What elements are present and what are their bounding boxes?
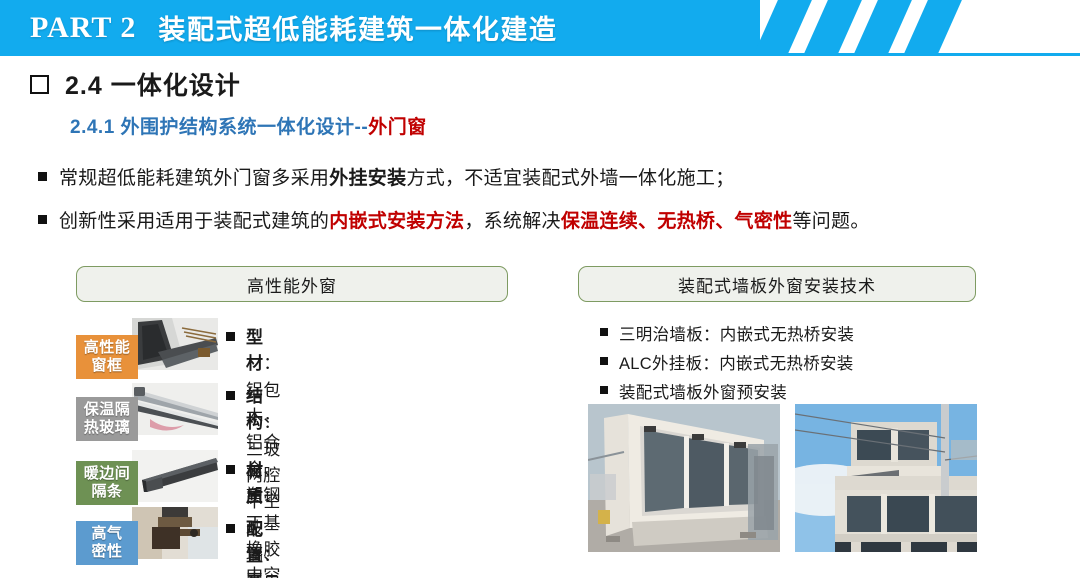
badge-line-1: 保温隔 — [84, 401, 131, 419]
badge-line-2: 窗框 — [91, 357, 122, 375]
badge-line-2: 隔条 — [91, 483, 122, 501]
bullet-1-seg-0: 常规超低能耗建筑外门窗多采用 — [59, 168, 329, 189]
badge-warm-edge-spacer: 暖边间 隔条 — [76, 461, 138, 505]
bullet-2-seg-2: ，系统解决 — [464, 211, 561, 232]
badge-line-2: 热玻璃 — [84, 419, 131, 437]
right-bullet-1: 三明治墙板：内嵌式无热桥安装 — [600, 321, 854, 345]
filled-square-bullet-icon — [38, 172, 47, 181]
header-banner: PART 2 装配式超低能耗建筑一体化建造 — [0, 0, 1080, 55]
bullet-2-seg-4: 等问题。 — [792, 211, 869, 232]
filled-square-bullet-icon — [226, 524, 235, 533]
filled-square-bullet-icon — [38, 215, 47, 224]
hollow-square-icon — [30, 75, 49, 94]
section-heading: 2.4 一体化设计 — [30, 66, 241, 102]
building-facade-installation-photo — [795, 404, 977, 552]
badge-line-1: 高性能 — [84, 339, 131, 357]
bullet-2-seg-1: 内嵌式安装方法 — [329, 211, 464, 232]
subsection-heading-accent: 外门窗 — [368, 117, 427, 138]
spec-label-1: 型材 — [246, 328, 263, 373]
precast-wall-panel-window-photo — [588, 404, 780, 552]
filled-square-bullet-icon — [600, 357, 608, 365]
badge-airtightness: 高气 密性 — [76, 521, 138, 565]
window-frame-photo — [132, 318, 218, 370]
right-bullet-2: ALC外挂板：内嵌式无热桥安装 — [600, 350, 854, 374]
warm-edge-spacer-photo — [132, 450, 218, 502]
filled-square-bullet-icon — [600, 328, 608, 336]
right-panel-caption-text: 装配式墙板外窗安装技术 — [678, 272, 876, 297]
spec-label-3: 材质 — [246, 461, 263, 506]
body-bullet-1: 常规超低能耗建筑外门窗多采用外挂安装方式，不适宜装配式外墙一体化施工； — [38, 163, 735, 190]
insulating-glass-photo — [132, 383, 218, 435]
body-bullet-2: 创新性采用适用于装配式建筑的内嵌式安装方法，系统解决保温连续、无热桥、气密性等问… — [38, 206, 870, 233]
bullet-1-seg-1: 外挂安装 — [329, 168, 406, 189]
slide-root: PART 2 装配式超低能耗建筑一体化建造 2.4 一体化设计 2.4.1 外围… — [0, 0, 1080, 578]
right-bullet-3-text: 装配式墙板外窗预安装 — [619, 379, 787, 403]
right-panel-caption-box: 装配式墙板外窗安装技术 — [578, 266, 976, 302]
bullet-2-seg-3: 保温连续、无热桥、气密性 — [561, 211, 793, 232]
banner-title-group: PART 2 装配式超低能耗建筑一体化建造 — [30, 0, 557, 55]
right-bullet-3: 装配式墙板外窗预安装 — [600, 379, 787, 403]
badge-line-1: 暖边间 — [84, 465, 131, 483]
filled-square-bullet-icon — [226, 465, 235, 474]
spec-label-4: 配置 — [246, 520, 263, 565]
spec-label-2: 结构 — [246, 387, 263, 432]
badge-insulating-glass: 保温隔 热玻璃 — [76, 397, 138, 441]
filled-square-bullet-icon — [226, 332, 235, 341]
subsection-heading: 2.4.1 外围护结构系统一体化设计--外门窗 — [70, 112, 427, 139]
spec-text-row-4: 配置：开启扇三道密封条、五个锁点 — [226, 517, 281, 578]
body-bullet-2-text: 创新性采用适用于装配式建筑的内嵌式安装方法，系统解决保温连续、无热桥、气密性等问… — [59, 206, 870, 233]
right-bullet-1-text: 三明治墙板：内嵌式无热桥安装 — [619, 321, 854, 345]
badge-high-performance-frame: 高性能 窗框 — [76, 335, 138, 379]
bullet-2-seg-0: 创新性采用适用于装配式建筑的 — [59, 211, 329, 232]
banner-title: 装配式超低能耗建筑一体化建造 — [158, 8, 557, 47]
section-heading-text: 2.4 一体化设计 — [65, 66, 241, 102]
left-panel-caption-box: 高性能外窗 — [76, 266, 508, 302]
badge-line-1: 高气 — [91, 525, 122, 543]
badge-line-2: 密性 — [91, 543, 122, 561]
spec-text-row-4-content: 配置：开启扇三道密封条、五个锁点 — [246, 517, 281, 578]
filled-square-bullet-icon — [226, 391, 235, 400]
filled-square-bullet-icon — [600, 386, 608, 394]
right-bullet-2-text: ALC外挂板：内嵌式无热桥安装 — [619, 350, 854, 374]
bullet-1-seg-2: 方式，不适宜装配式外墙一体化施工； — [406, 168, 734, 189]
airtight-hardware-photo — [132, 507, 218, 559]
body-bullet-1-text: 常规超低能耗建筑外门窗多采用外挂安装方式，不适宜装配式外墙一体化施工； — [59, 163, 735, 190]
subsection-heading-prefix: 2.4.1 外围护结构系统一体化设计-- — [70, 117, 368, 138]
part-label: PART 2 — [30, 11, 136, 45]
left-panel-caption-text: 高性能外窗 — [247, 272, 337, 297]
